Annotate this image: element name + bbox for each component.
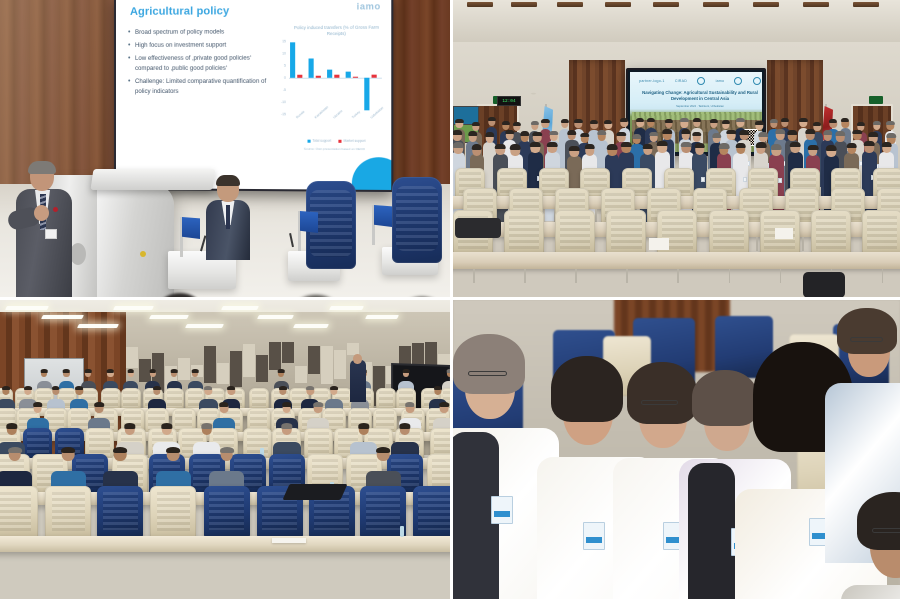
photo-collage: Agricultural policy iamo Broad spectrum … [0, 0, 900, 599]
person-hair [532, 132, 542, 137]
person-hair [472, 144, 483, 149]
person-hair [649, 132, 659, 137]
person-hair [282, 402, 292, 407]
person-hair [376, 447, 390, 454]
person-hair [219, 402, 229, 407]
person-hair [776, 129, 786, 134]
person-hair [799, 118, 807, 122]
chart-bar-group [363, 41, 382, 114]
cream-chair [376, 388, 396, 410]
wall-block [425, 342, 437, 366]
person-hair [227, 386, 235, 390]
legend-swatch [338, 139, 341, 142]
person-hair [829, 119, 837, 123]
chart-bar [364, 78, 369, 111]
person-hair [278, 369, 285, 372]
chart-plot-area [289, 41, 382, 114]
cream-chair [121, 388, 141, 410]
person-hair [512, 122, 520, 126]
wall-block [282, 342, 294, 363]
person-hair [693, 118, 701, 122]
person-hair [201, 423, 212, 429]
person-hair [399, 423, 410, 429]
wall-block [295, 366, 307, 383]
person-hair [868, 132, 878, 137]
slide-bullet-list: Broad spectrum of policy models High foc… [128, 27, 272, 100]
person-hair [455, 119, 463, 123]
person-hair [561, 119, 569, 123]
ceiling-beam [803, 2, 829, 7]
chair-leg [780, 269, 782, 283]
paper-sheet [775, 228, 793, 239]
person-hair [403, 369, 410, 372]
blue-chair [97, 486, 143, 538]
person-hair [405, 402, 415, 407]
person-hair [736, 118, 744, 122]
speaker-hair [28, 161, 56, 174]
name-badge [583, 522, 605, 550]
chair-leg [882, 269, 884, 283]
eyeglasses-icon [468, 371, 507, 376]
person-hair [781, 118, 789, 122]
person-hair [220, 447, 234, 454]
chart-y-tick: 0 [284, 76, 286, 80]
person-hair [620, 118, 628, 122]
ceiling-light [293, 324, 329, 328]
list-item: Broad spectrum of policy models [128, 27, 272, 38]
photo-panel-group: partner-logo-1 CIRAD iamo Navigating Cha… [453, 0, 900, 297]
person-hair [790, 142, 801, 147]
ceiling-light [5, 306, 49, 310]
ceiling-beam [753, 2, 779, 7]
name-badge [778, 178, 782, 183]
laptop-bag [455, 218, 501, 238]
person-hair [755, 121, 763, 125]
person-hair [663, 129, 673, 134]
partner-logos: partner-logo-1 CIRAD iamo [634, 75, 762, 87]
standing-attendee [350, 360, 366, 402]
projection-screen: Agricultural policy iamo Broad spectrum … [114, 0, 393, 192]
paper-sheet [649, 238, 669, 250]
person-hair [502, 121, 510, 125]
person-hair [852, 130, 862, 135]
wall-block [308, 346, 320, 374]
person-hair [505, 130, 515, 135]
person-hair [864, 141, 875, 146]
exit-sign [869, 96, 883, 104]
attendee [825, 308, 900, 488]
table-flag [372, 205, 375, 245]
person-hair [281, 423, 292, 429]
person-hair [41, 369, 48, 372]
chart-bar [372, 75, 377, 78]
person-hair [569, 146, 580, 151]
logo-circle-icon [734, 77, 742, 85]
person-hair [205, 386, 213, 390]
person-hair [758, 132, 768, 137]
person-hair [61, 447, 75, 454]
chair-leg [626, 269, 628, 283]
chart-bar [346, 71, 351, 77]
person-hair [621, 142, 632, 147]
person-hair [6, 423, 17, 429]
presentation-slide: Agricultural policy iamo Broad spectrum … [116, 0, 391, 190]
person-hair [841, 118, 849, 122]
chart-y-tick: 5 [284, 64, 286, 68]
person-hair [771, 144, 782, 149]
person-hair [567, 130, 577, 135]
speaker-lapel-pin [53, 207, 58, 212]
wall-block [243, 344, 255, 377]
seated-panelist [206, 177, 250, 261]
ceiling-beam [605, 2, 631, 7]
chart-bar [290, 43, 295, 78]
chart-bar [309, 58, 314, 77]
person-hair [95, 402, 105, 407]
backpack [803, 272, 845, 297]
photo-panel-presenter: Agricultural policy iamo Broad spectrum … [0, 0, 450, 297]
lectern-desktop [91, 169, 216, 190]
person-hair [806, 129, 816, 134]
ceiling-beam [853, 2, 879, 7]
person-hair [857, 122, 865, 126]
chart-bar-group [326, 41, 345, 114]
ceiling-light [149, 315, 189, 319]
chair-leg [677, 269, 679, 283]
person-hair [541, 119, 549, 123]
cream-chair [150, 486, 196, 538]
led-clock-sign: 12:04 [497, 96, 521, 106]
person-hair [510, 144, 521, 149]
person-hair [8, 447, 22, 454]
wall-block [126, 347, 138, 368]
cream-chair [0, 486, 38, 538]
legend-label: Market support [344, 139, 366, 143]
ceiling-beam [511, 2, 537, 7]
person-hair [487, 117, 495, 121]
chart-x-axis-labels: RussiaKazakhstanUkraineTurkeyUzbekistan [289, 116, 382, 141]
person-hair [520, 131, 530, 136]
person-hair [636, 118, 644, 122]
wall-block [334, 350, 346, 379]
foreground-audience [0, 283, 450, 297]
person-hair [171, 369, 178, 372]
table-flag [180, 217, 183, 257]
person-hair [127, 369, 134, 372]
chart-bar [297, 75, 302, 78]
person-hair [872, 121, 880, 125]
auditorium-desk [453, 252, 900, 269]
panelist-tie [226, 205, 230, 229]
list-item: High focus on investment support [128, 40, 272, 50]
name-badge [491, 496, 513, 524]
chart-bar-group [345, 41, 364, 114]
person-hair [472, 122, 480, 126]
water-bottle [400, 526, 404, 537]
speaker-hand [34, 205, 49, 221]
attendee-hair [857, 492, 900, 550]
person-hair [453, 130, 462, 135]
ceiling-beam [467, 2, 493, 7]
ceiling-light [185, 324, 224, 328]
slide-title: Agricultural policy [130, 5, 229, 18]
speaker-name-badge [45, 229, 57, 239]
name-badge [743, 177, 747, 182]
attendee [841, 492, 900, 599]
cream-chair [249, 388, 269, 410]
conference-subtitle: September 2024 · Tashkent, Uzbekistan [636, 105, 762, 108]
lecture-desk [0, 536, 450, 552]
audience-head [160, 293, 200, 297]
person-hair [665, 119, 673, 123]
person-hair [107, 369, 114, 372]
chart-title: Policy induced transfers (% of Gross Far… [287, 25, 386, 38]
person-head [353, 354, 362, 364]
person-hair [617, 132, 627, 137]
chair-leg [575, 269, 577, 283]
chart-bar-group [289, 41, 307, 114]
ceiling-beam [653, 2, 679, 7]
person-hair [33, 402, 43, 407]
ceiling-light [221, 306, 259, 310]
logo-circle-icon [753, 77, 761, 85]
person-hair [722, 120, 730, 124]
paper-sheet [272, 538, 306, 543]
person-hair [530, 121, 538, 125]
chart-y-tick: 15 [282, 39, 286, 43]
ceiling-light [77, 324, 119, 328]
auditorium-chair [606, 210, 646, 256]
person-hair [574, 119, 582, 123]
lectern-light [140, 251, 146, 257]
chart-bar [327, 70, 332, 78]
person-hair [647, 118, 655, 122]
chart-legend: Total supportMarket support [291, 139, 382, 143]
person-hair [836, 131, 846, 136]
person-hair [85, 369, 92, 372]
attendee-vest [688, 463, 735, 599]
person-hair [710, 119, 718, 123]
person-hair [735, 143, 746, 148]
chair-leg [595, 209, 597, 223]
person-hair [453, 142, 463, 147]
person-hair [279, 386, 287, 390]
ceiling-beam [557, 2, 583, 7]
person-hair [584, 144, 595, 149]
person-hair [680, 118, 688, 122]
speaker-presenter [14, 163, 76, 297]
chart-y-tick: -5 [283, 88, 286, 92]
person-hair [468, 131, 478, 136]
auditorium-chair [862, 210, 900, 256]
person-hair [642, 144, 653, 149]
chair-leg [473, 269, 475, 283]
chair-leg [802, 237, 804, 251]
person-hair [52, 386, 60, 390]
name-badge [701, 177, 705, 182]
ceiling-light [41, 315, 84, 319]
person-hair [719, 143, 730, 148]
auditorium-chair [504, 210, 544, 256]
chart-legend-item: Market support [338, 139, 365, 143]
person-hair [24, 386, 32, 390]
chart-bar [334, 75, 339, 78]
person-hair [434, 386, 442, 390]
audience-head [296, 295, 336, 297]
wall-block [230, 351, 242, 387]
partner-logo-1: partner-logo-1 [639, 79, 664, 83]
person-hair [63, 369, 70, 372]
person-hair [808, 145, 819, 150]
person-hair [313, 402, 323, 407]
laptop-keyboard [282, 484, 347, 500]
ceiling-beam [703, 2, 729, 7]
ceiling-light [113, 306, 154, 310]
person-hair [770, 119, 778, 123]
wall-block [269, 342, 281, 370]
chart-bar-group [308, 41, 327, 114]
person-hair [692, 132, 702, 137]
auditorium-chair [555, 210, 595, 256]
person-hair [495, 144, 506, 149]
ceiling-light [329, 306, 364, 310]
chair-leg [729, 269, 731, 283]
person-hair [886, 133, 896, 138]
person-hair [149, 369, 156, 372]
person-hair [192, 369, 199, 372]
person-hair [75, 386, 83, 390]
attendee-hair [453, 334, 525, 394]
person-hair [124, 423, 135, 429]
photo-panel-lecture-hall [0, 300, 450, 599]
person-hair [846, 143, 857, 148]
wall-block [256, 355, 268, 382]
person-hair [739, 130, 749, 135]
person-hair [113, 447, 127, 454]
panelist-hair [216, 175, 240, 186]
person-hair [712, 133, 722, 138]
partner-logo-cirad: CIRAD [675, 79, 687, 83]
panel-chair [392, 177, 442, 263]
person-hair [597, 130, 607, 135]
wall-block [321, 346, 333, 384]
person-hair [657, 141, 668, 146]
cream-chair [45, 486, 91, 538]
chart-source-note: Source: Own presentation based on OECD [283, 147, 386, 151]
person-hair [530, 142, 541, 147]
person-hair [547, 142, 558, 147]
person-hair [607, 144, 618, 149]
chart-bar [353, 77, 358, 78]
person-hair [485, 132, 495, 137]
blue-chair [413, 486, 450, 538]
attendee-clothing [841, 585, 900, 599]
person-hair [787, 130, 797, 135]
person-hair [826, 145, 837, 150]
person-hair [756, 142, 767, 147]
person-hair [439, 402, 449, 407]
person-hair [358, 423, 369, 429]
person-hair [153, 386, 161, 390]
person-hair [823, 130, 833, 135]
cream-chair [164, 388, 184, 410]
chart-bar [316, 75, 321, 77]
person-hair [161, 423, 172, 429]
logo-circle-icon [697, 77, 705, 85]
chart-legend-item: Total support [307, 139, 331, 143]
person-hair [813, 122, 821, 126]
person-hair [306, 386, 314, 390]
person-hair [604, 120, 612, 124]
person-hair [330, 386, 338, 390]
eyeglasses-icon [641, 400, 678, 405]
legend-swatch [307, 139, 310, 142]
auditorium-chair [811, 210, 851, 256]
attendee-hair [837, 308, 897, 354]
person-hair [632, 134, 642, 139]
list-item: Low effectiveness of ‚private good polic… [128, 54, 272, 74]
wall-block [217, 363, 229, 384]
person-hair [549, 131, 559, 136]
eyeglasses-icon [872, 528, 900, 533]
chair-leg [756, 237, 758, 251]
slide-bar-chart: Policy induced transfers (% of Gross Far… [273, 25, 388, 156]
partner-logo-iamo: iamo [716, 79, 725, 83]
person-hair [681, 142, 692, 147]
person-hair [726, 130, 736, 135]
person-hair [580, 133, 590, 138]
person-hair [886, 121, 894, 125]
list-item: Challenge: Limited comparative quantific… [128, 77, 272, 97]
chair-leg [524, 269, 526, 283]
photo-panel-attendees [453, 300, 900, 599]
blue-chair [204, 486, 250, 538]
person-hair [694, 143, 705, 148]
slide-decoration [352, 157, 391, 190]
table-flag [298, 211, 301, 251]
ceiling-light [365, 315, 399, 319]
wall-block [204, 346, 216, 383]
person-hair [2, 386, 10, 390]
chart-y-axis: 151050-5-10-15 [273, 41, 287, 114]
person-hair [881, 142, 892, 147]
chart-y-tick: 10 [282, 51, 286, 55]
chart-y-tick: -15 [281, 112, 286, 116]
person-hair [590, 120, 598, 124]
legend-label: Total support [312, 139, 331, 143]
person-hair [447, 369, 450, 372]
iamo-logo: iamo [357, 1, 381, 11]
eyeglasses-icon [850, 337, 883, 342]
auditorium-chair [709, 210, 749, 256]
chart-y-tick: -10 [281, 100, 286, 104]
ceiling-light [257, 315, 294, 319]
person-hair [166, 447, 180, 454]
conference-title: Navigating Change: Agricultural Sustaina… [636, 90, 762, 102]
